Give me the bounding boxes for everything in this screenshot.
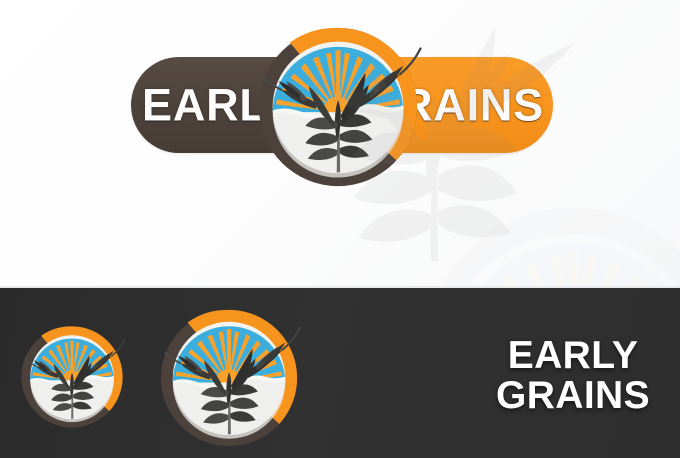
wordmark-line-two: GRAINS — [480, 376, 666, 416]
early-grains-emblem-small — [17, 322, 127, 432]
logo-presentation-canvas: EARLY GRAINS EARLY GRAINS — [0, 0, 680, 458]
early-grains-emblem-master — [252, 21, 424, 193]
wordmark-early-grains: EARLY GRAINS — [480, 336, 666, 416]
master-logo-lockup: EARLY GRAINS — [131, 57, 553, 153]
wordmark-line-one: EARLY — [480, 336, 666, 376]
early-grains-emblem-medium — [155, 304, 303, 452]
